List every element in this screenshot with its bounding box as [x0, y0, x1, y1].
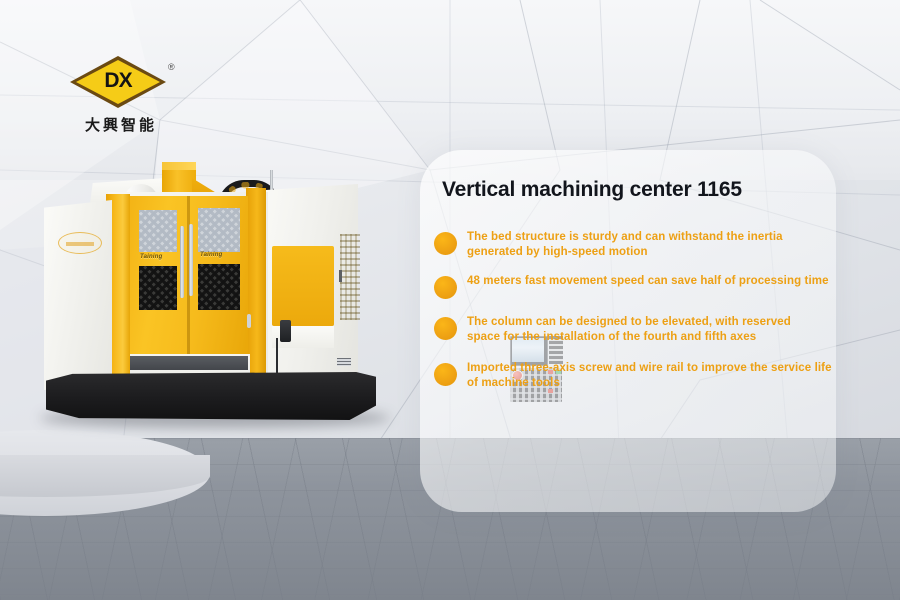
feature-list: The bed structure is sturdy and can with… [426, 230, 836, 405]
feature-text: The column can be designed to be elevate… [467, 315, 811, 345]
door-window-mesh-upper-right [198, 208, 240, 252]
list-item: Imported three-axis screw and wire rail … [426, 361, 836, 391]
left-cabinet-badge [58, 232, 102, 254]
machine-base-casting [46, 372, 376, 420]
product-banner: DX ® 大興智能 Taining Taining [0, 0, 900, 600]
machine-left-cabinet [44, 200, 112, 390]
bullet-dot-icon [434, 363, 457, 386]
door-brand-right: Taining [200, 252, 223, 258]
right-panel-handle [339, 270, 342, 282]
feature-text: Imported three-axis screw and wire rail … [467, 361, 836, 391]
door-handle-left [180, 226, 184, 298]
list-item: The bed structure is sturdy and can with… [426, 230, 836, 260]
diamond-logo-icon: DX [70, 56, 166, 108]
logo-mark-text: DX [70, 69, 166, 93]
brand-logo: DX ® 大興智能 [62, 56, 180, 142]
door-window-mesh-lower-right [198, 264, 240, 310]
cnc-control-panel [272, 246, 334, 326]
bullet-dot-icon [434, 232, 457, 255]
door-window-mesh-lower-left [139, 266, 177, 310]
product-info-card: Vertical machining center 1165 The bed s… [420, 150, 836, 512]
door-handle-right [189, 224, 193, 296]
door-brand-left: Taining [140, 254, 163, 260]
page-title: Vertical machining center 1165 [442, 178, 822, 202]
list-item: 48 meters fast movement speed can save h… [426, 274, 836, 299]
right-vent-panel [340, 234, 360, 320]
feature-text: The bed structure is sturdy and can with… [467, 230, 815, 260]
door-window-mesh-upper-left [139, 210, 177, 252]
door-lock [247, 314, 251, 328]
list-item: The column can be designed to be elevate… [426, 315, 836, 345]
spindle-column-cap [162, 162, 196, 170]
registered-trademark-icon: ® [168, 62, 175, 72]
bullet-dot-icon [434, 317, 457, 340]
machine-spec-plate [337, 358, 351, 366]
feature-text: 48 meters fast movement speed can save h… [467, 274, 829, 289]
bullet-dot-icon [434, 276, 457, 299]
chip-tray-band [130, 356, 248, 370]
machine-product-image: Taining Taining [40, 162, 382, 450]
brand-chinese-name: 大興智能 [62, 114, 180, 135]
